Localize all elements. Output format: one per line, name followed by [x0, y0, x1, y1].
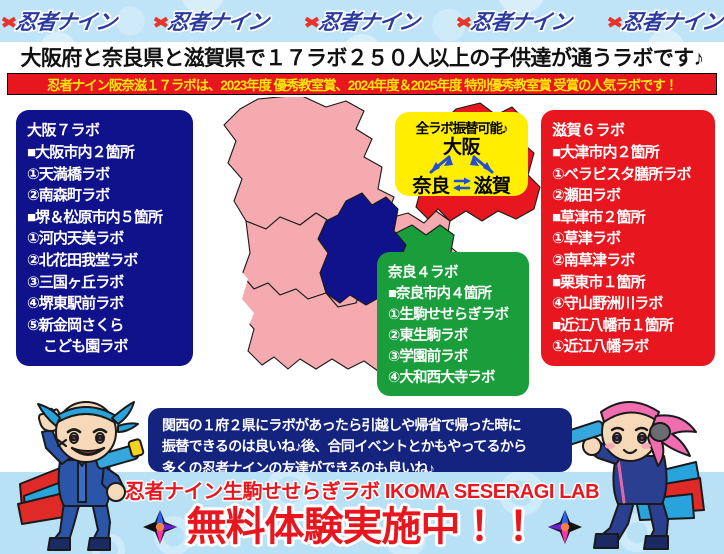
- award-banner-text: 忍者ナイン阪奈滋１７ラボは、2023年度 優秀教室賞、2024年度＆2025年度…: [47, 74, 677, 94]
- osaka-lab-list: ■大阪市内２箇所①天満橋ラボ②南森町ラボ■堺＆松原市内５箇所①河内天美ラボ②北花…: [27, 142, 184, 358]
- info-box-shiga: 滋賀６ラボ ■大津市内２箇所①ベラビスタ膳所ラボ②瀬田ラボ■草津市２箇所①草津ラ…: [541, 110, 715, 366]
- callout-bottom-row: 奈良 滋賀: [412, 171, 510, 198]
- osaka-lab-item-5: ①河内天美ラボ: [27, 228, 184, 250]
- brand-logo-text: 忍者ナイン: [14, 6, 118, 36]
- speech-line-2: 振替できるのは良いね♪後、合同イベントとかもやってるから: [162, 436, 572, 457]
- shiga-lab-item-7: ■栗東市１箇所: [552, 272, 706, 294]
- shiga-box-title: 滋賀６ラボ: [552, 119, 706, 140]
- shiga-lab-item-4: ■草津市２箇所: [552, 207, 706, 229]
- shiga-lab-item-1: ■大津市内２箇所: [552, 142, 706, 164]
- brand-logo-2: 忍者ナイン: [151, 6, 269, 36]
- free-trial-text: 無料体験実施中！！: [187, 507, 538, 547]
- brand-logo-text: 忍者ナイン: [468, 6, 572, 36]
- nara-lab-item-2: ①生駒せせらぎラボ: [388, 305, 520, 326]
- poster-root: 忍者ナイン忍者ナイン忍者ナイン忍者ナイン忍者ナイン 大阪府と奈良県と滋賀県で１７…: [0, 0, 724, 554]
- double-arrow-icon: [452, 176, 472, 193]
- osaka-lab-item-7: ③三国ヶ丘ラボ: [27, 272, 184, 294]
- brand-logo-5: 忍者ナイン: [606, 6, 724, 36]
- brand-logo-4: 忍者ナイン: [454, 6, 572, 36]
- osaka-box-title: 大阪７ラボ: [27, 119, 184, 140]
- shuriken-icon: [154, 15, 167, 28]
- callout-pref-nara: 奈良: [412, 171, 449, 198]
- brand-logo-1: 忍者ナイン: [0, 6, 118, 36]
- comment-speech-bubble: 関西の１府２県にラボがあったら引越しや帰省で帰った時に振替できるのは良いね♪後、…: [148, 408, 572, 472]
- nara-lab-item-4: ③学園前ラボ: [388, 347, 520, 368]
- brand-logo-text: 忍者ナイン: [317, 6, 421, 36]
- nara-lab-list: ■奈良市内４箇所①生駒せせらぎラボ②東生駒ラボ③学園前ラボ④大和西大寺ラボ: [388, 284, 520, 388]
- ninja-girl-character: [572, 392, 724, 554]
- nara-lab-item-5: ④大和西大寺ラボ: [388, 368, 520, 389]
- shiga-lab-item-3: ②瀬田ラボ: [552, 185, 706, 207]
- osaka-lab-item-1: ■大阪市内２箇所: [27, 142, 184, 164]
- logo-repeat-row: 忍者ナイン忍者ナイン忍者ナイン忍者ナイン忍者ナイン: [0, 0, 724, 42]
- callout-heading: 全ラボ振替可能♪: [416, 117, 508, 137]
- award-banner-wrap: 忍者ナイン阪奈滋１７ラボは、2023年度 優秀教室賞、2024年度＆2025年度…: [0, 71, 724, 97]
- info-box-nara: 奈良４ラボ ■奈良市内４箇所①生駒せせらぎラボ②東生駒ラボ③学園前ラボ④大和西大…: [377, 252, 529, 396]
- headline-banner: 大阪府と奈良県と滋賀県で１７ラボ２５０人以上の子供達が通うラボです♪: [0, 42, 724, 71]
- nara-box-title: 奈良４ラボ: [388, 261, 520, 282]
- shuriken-icon: [2, 15, 15, 28]
- map-stage: 大阪７ラボ ■大阪市内２箇所①天満橋ラボ②南森町ラボ■堺＆松原市内５箇所①河内天…: [0, 97, 724, 403]
- info-box-osaka: 大阪７ラボ ■大阪市内２箇所①天満橋ラボ②南森町ラボ■堺＆松原市内５箇所①河内天…: [16, 110, 193, 366]
- osaka-lab-item-9: ⑤新金岡さくら: [27, 315, 184, 337]
- headline-text: 大阪府と奈良県と滋賀県で１７ラボ２５０人以上の子供達が通うラボです♪: [20, 42, 703, 72]
- shuriken-icon: [608, 15, 621, 28]
- shiga-lab-item-8: ④守山野洲川ラボ: [552, 293, 706, 315]
- shiga-lab-item-6: ②南草津ラボ: [552, 250, 706, 272]
- brand-logo-text: 忍者ナイン: [165, 6, 269, 36]
- shiga-lab-list: ■大津市内２箇所①ベラビスタ膳所ラボ②瀬田ラボ■草津市２箇所①草津ラボ②南草津ラ…: [552, 142, 706, 358]
- callout-pref-shiga: 滋賀: [474, 171, 511, 198]
- osaka-lab-item-3: ②南森町ラボ: [27, 185, 184, 207]
- shuriken-icon: [457, 15, 470, 28]
- osaka-lab-item-2: ①天満橋ラボ: [27, 164, 184, 186]
- award-banner: 忍者ナイン阪奈滋１７ラボは、2023年度 優秀教室賞、2024年度＆2025年度…: [7, 73, 717, 95]
- nara-lab-item-1: ■奈良市内４箇所: [388, 284, 520, 305]
- shiga-lab-item-2: ①ベラビスタ膳所ラボ: [552, 164, 706, 186]
- shiga-lab-item-5: ①草津ラボ: [552, 228, 706, 250]
- transfer-callout: 全ラボ振替可能♪ 大阪 奈良: [395, 112, 528, 196]
- brand-logo-text: 忍者ナイン: [620, 6, 724, 36]
- shiga-lab-item-9: ■近江八幡市１箇所: [552, 315, 706, 337]
- speech-bubble-text: 関西の１府２県にラボがあったら引越しや帰省で帰った時に振替できるのは良いね♪後、…: [162, 415, 572, 479]
- nara-lab-item-3: ②東生駒ラボ: [388, 326, 520, 347]
- shuriken-icon: [305, 15, 318, 28]
- ninja-boy-character: [12, 392, 162, 554]
- speech-line-1: 関西の１府２県にラボがあったら引越しや帰省で帰った時に: [162, 415, 572, 436]
- osaka-lab-item-8: ④堺東駅前ラボ: [27, 293, 184, 315]
- shiga-lab-item-10: ①近江八幡ラボ: [552, 336, 706, 358]
- osaka-lab-item-10: こども園ラボ: [27, 336, 184, 358]
- osaka-lab-item-4: ■堺＆松原市内５箇所: [27, 207, 184, 229]
- logo-strip: 忍者ナイン忍者ナイン忍者ナイン忍者ナイン忍者ナイン: [0, 0, 724, 42]
- callout-pref-osaka: 大阪: [443, 138, 480, 158]
- osaka-lab-item-6: ②北花田我堂ラボ: [27, 250, 184, 272]
- brand-logo-3: 忍者ナイン: [303, 6, 421, 36]
